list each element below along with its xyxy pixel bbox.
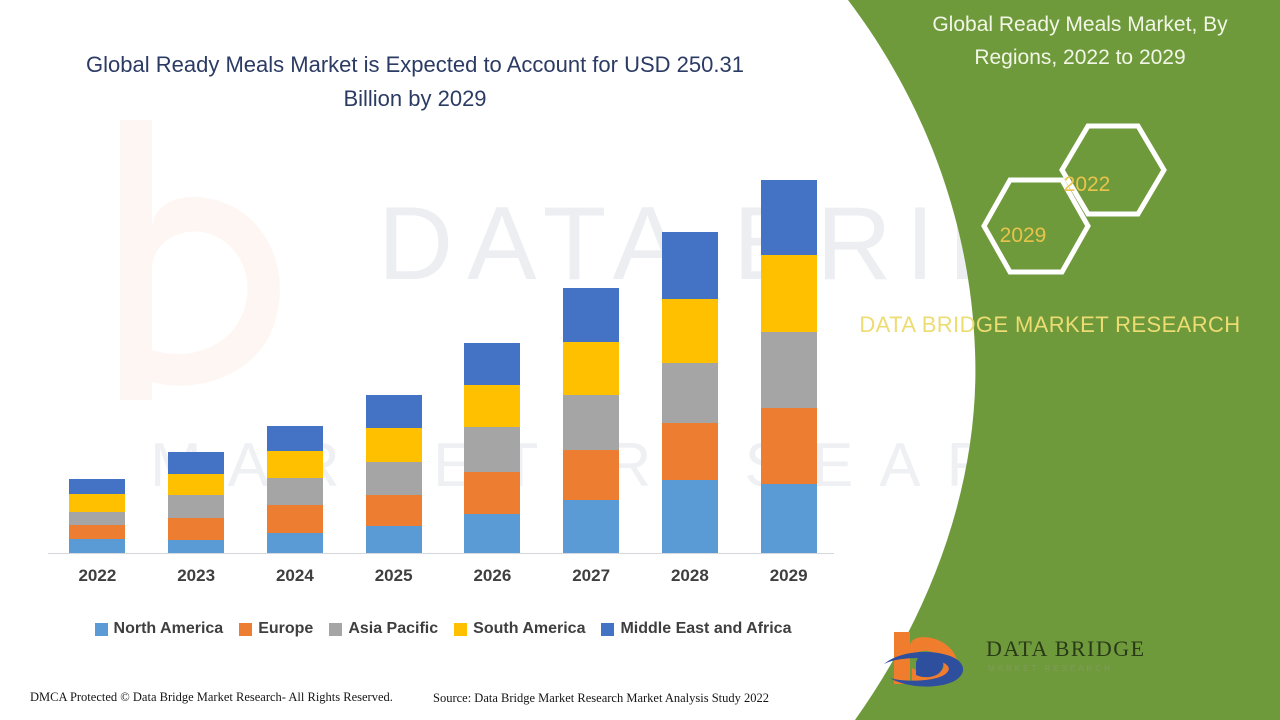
data-bridge-logo: DATA BRIDGE MARKET RESEARCH [880, 628, 1230, 690]
bar-segment[interactable] [761, 332, 817, 408]
bar-segment[interactable] [366, 462, 422, 495]
bar-segment[interactable] [267, 451, 323, 477]
bar-segment[interactable] [366, 428, 422, 463]
x-axis-line [48, 553, 834, 554]
bar-group[interactable] [267, 426, 323, 554]
legend-swatch-icon [601, 623, 614, 636]
bar-segment[interactable] [563, 288, 619, 343]
bar-segment[interactable] [69, 512, 125, 524]
legend-label: North America [114, 620, 224, 638]
bar-segment[interactable] [69, 525, 125, 539]
hex-badge-2029-label: 2029 [978, 224, 1068, 248]
legend-item[interactable]: Middle East and Africa [601, 620, 791, 638]
bar-segment[interactable] [563, 395, 619, 450]
legend-label: Middle East and Africa [620, 620, 791, 638]
legend-label: Europe [258, 620, 313, 638]
bar-segment[interactable] [563, 450, 619, 500]
bar-segment[interactable] [464, 385, 520, 428]
bar-segment[interactable] [366, 395, 422, 428]
bar-segment[interactable] [662, 299, 718, 363]
bar-segment[interactable] [464, 427, 520, 472]
bar-segment[interactable] [761, 408, 817, 484]
bar-segment[interactable] [464, 514, 520, 554]
bar-segment[interactable] [267, 426, 323, 451]
x-axis-label: 2024 [247, 566, 343, 586]
bar-segment[interactable] [69, 539, 125, 554]
bar-segment[interactable] [563, 342, 619, 395]
x-axis-label: 2029 [741, 566, 837, 586]
footer-source-text: Source: Data Bridge Market Research Mark… [433, 691, 769, 706]
bar-segment[interactable] [168, 474, 224, 495]
bar-group[interactable] [168, 452, 224, 554]
bar-group[interactable] [761, 180, 817, 554]
bar-segment[interactable] [464, 343, 520, 385]
bar-group[interactable] [563, 288, 619, 554]
x-axis-labels: 20222023202420252026202720282029 [48, 566, 838, 596]
legend-item[interactable]: North America [95, 620, 224, 638]
x-axis-label: 2022 [49, 566, 145, 586]
bar-chart-plot-area [48, 150, 838, 554]
legend-swatch-icon [329, 623, 342, 636]
bar-segment[interactable] [662, 232, 718, 299]
legend-item[interactable]: South America [454, 620, 585, 638]
bar-segment[interactable] [168, 540, 224, 554]
x-axis-label: 2028 [642, 566, 738, 586]
legend-label: Asia Pacific [348, 620, 438, 638]
bar-segment[interactable] [761, 484, 817, 554]
bar-segment[interactable] [662, 363, 718, 423]
bar-segment[interactable] [563, 500, 619, 554]
hexagon-outline-icon [970, 118, 1180, 283]
legend-swatch-icon [95, 623, 108, 636]
panel-title: Global Ready Meals Market, By Regions, 2… [890, 8, 1270, 74]
footer: DMCA Protected © Data Bridge Market Rese… [0, 680, 860, 720]
legend-swatch-icon [454, 623, 467, 636]
brand-panel-shape [820, 0, 1280, 720]
bar-segment[interactable] [761, 255, 817, 331]
footer-dmca-text: DMCA Protected © Data Bridge Market Rese… [30, 690, 393, 705]
x-axis-label: 2026 [444, 566, 540, 586]
bar-segment[interactable] [168, 518, 224, 539]
logo-wordmark: DATA BRIDGE [986, 636, 1146, 662]
bar-segment[interactable] [267, 505, 323, 532]
legend-item[interactable]: Asia Pacific [329, 620, 438, 638]
bar-segment[interactable] [69, 479, 125, 494]
legend-item[interactable]: Europe [239, 620, 313, 638]
bar-segment[interactable] [267, 478, 323, 505]
bar-group[interactable] [69, 479, 125, 554]
bar-segment[interactable] [366, 526, 422, 554]
brand-name: DATA BRIDGE MARKET RESEARCH [850, 308, 1250, 341]
bar-segment[interactable] [662, 423, 718, 480]
bar-segment[interactable] [366, 495, 422, 527]
chart-legend: North AmericaEuropeAsia PacificSouth Ame… [48, 615, 838, 643]
bar-group[interactable] [366, 395, 422, 554]
hex-badge-2022-label: 2022 [1042, 173, 1132, 197]
chart-panel: Global Ready Meals Market is Expected to… [0, 0, 860, 680]
legend-swatch-icon [239, 623, 252, 636]
x-axis-label: 2023 [148, 566, 244, 586]
hexagon-badges: 2022 2029 [970, 118, 1180, 283]
bar-segment[interactable] [168, 495, 224, 518]
bar-segment[interactable] [267, 533, 323, 554]
bar-segment[interactable] [69, 494, 125, 512]
bar-group[interactable] [464, 343, 520, 554]
brand-panel: Global Ready Meals Market, By Regions, 2… [820, 0, 1280, 720]
bar-segment[interactable] [464, 472, 520, 515]
bar-segment[interactable] [662, 480, 718, 554]
logo-tagline: MARKET RESEARCH [988, 664, 1113, 673]
bar-group[interactable] [662, 232, 718, 554]
x-axis-label: 2025 [346, 566, 442, 586]
bar-segment[interactable] [168, 452, 224, 474]
infographic-canvas: DATA BRIDGE MARKET RESEARCH Global Ready… [0, 0, 1280, 720]
bar-segment[interactable] [761, 180, 817, 255]
data-bridge-b-icon [880, 628, 980, 688]
x-axis-label: 2027 [543, 566, 639, 586]
legend-label: South America [473, 620, 585, 638]
page-title: Global Ready Meals Market is Expected to… [60, 48, 770, 116]
